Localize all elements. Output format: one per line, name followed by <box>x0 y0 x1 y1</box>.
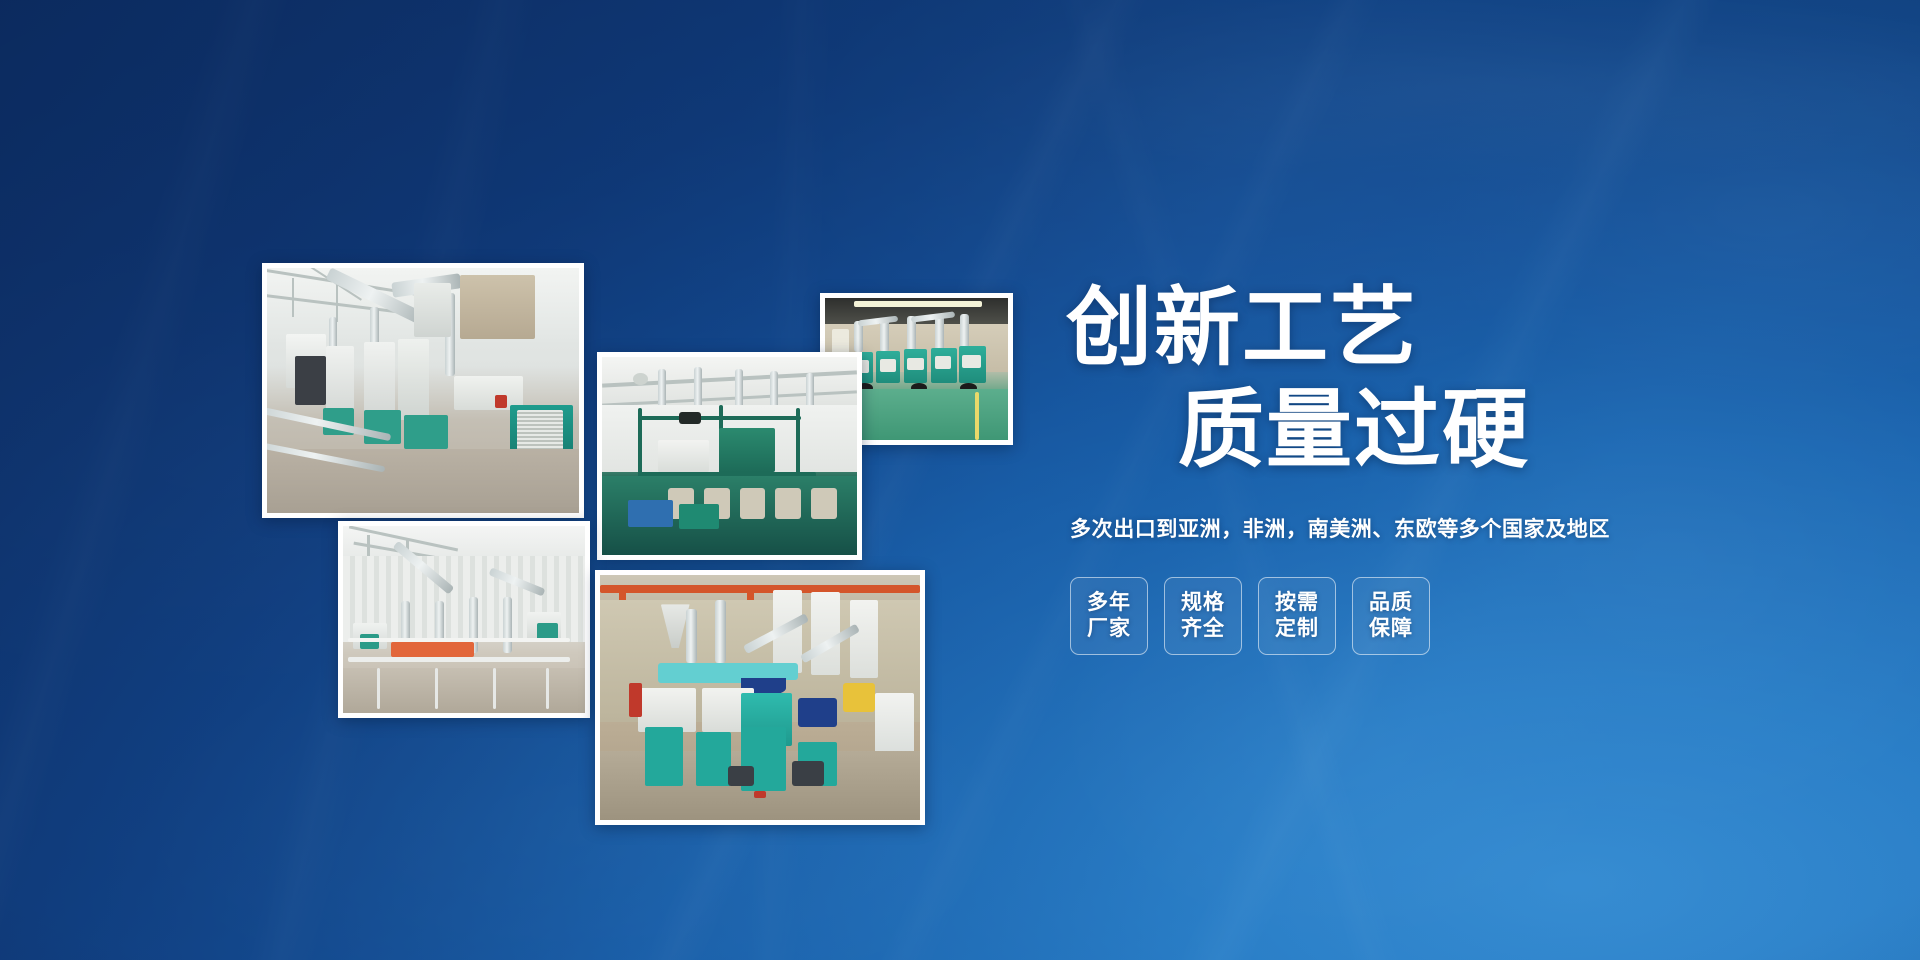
badge-line-2: 定制 <box>1275 616 1319 642</box>
badge-line-1: 规格 <box>1181 590 1225 616</box>
badge-line-1: 品质 <box>1369 590 1413 616</box>
promo-banner: 创新工艺 质量过硬 多次出口到亚洲，非洲，南美洲、东欧等多个国家及地区 多年 厂… <box>0 0 1920 960</box>
feature-badge-full-specifications[interactable]: 规格 齐全 <box>1164 577 1242 655</box>
badge-line-2: 齐全 <box>1181 616 1225 642</box>
collage-photo-complete-flour-mill-plant <box>595 570 925 825</box>
feature-badge-quality-guarantee[interactable]: 品质 保障 <box>1352 577 1430 655</box>
photo-collage <box>0 0 1000 960</box>
collage-photo-grain-processing-conveyor-workshop <box>338 521 590 718</box>
badge-line-1: 多年 <box>1087 590 1131 616</box>
headline-line-2: 质量过硬 <box>1178 382 1680 478</box>
headline-line-1: 创新工艺 <box>1066 280 1680 376</box>
badge-line-1: 按需 <box>1275 590 1319 616</box>
photo-image <box>343 526 585 713</box>
photo-image <box>267 268 579 513</box>
collage-photo-flour-milling-line-indoor <box>262 263 584 518</box>
badge-line-2: 厂家 <box>1087 616 1131 642</box>
collage-photo-steel-frame-milling-plant <box>597 352 862 560</box>
photo-image <box>602 357 857 555</box>
photo-image <box>600 575 920 820</box>
feature-badge-list: 多年 厂家 规格 齐全 按需 定制 品质 保障 <box>1070 577 1680 655</box>
badge-line-2: 保障 <box>1369 616 1413 642</box>
subtitle: 多次出口到亚洲，非洲，南美洲、东欧等多个国家及地区 <box>1070 513 1680 543</box>
headline: 创新工艺 质量过硬 <box>1060 280 1680 479</box>
feature-badge-years-manufacturer[interactable]: 多年 厂家 <box>1070 577 1148 655</box>
feature-badge-custom-made[interactable]: 按需 定制 <box>1258 577 1336 655</box>
banner-text-content: 创新工艺 质量过硬 多次出口到亚洲，非洲，南美洲、东欧等多个国家及地区 多年 厂… <box>1060 280 1680 655</box>
